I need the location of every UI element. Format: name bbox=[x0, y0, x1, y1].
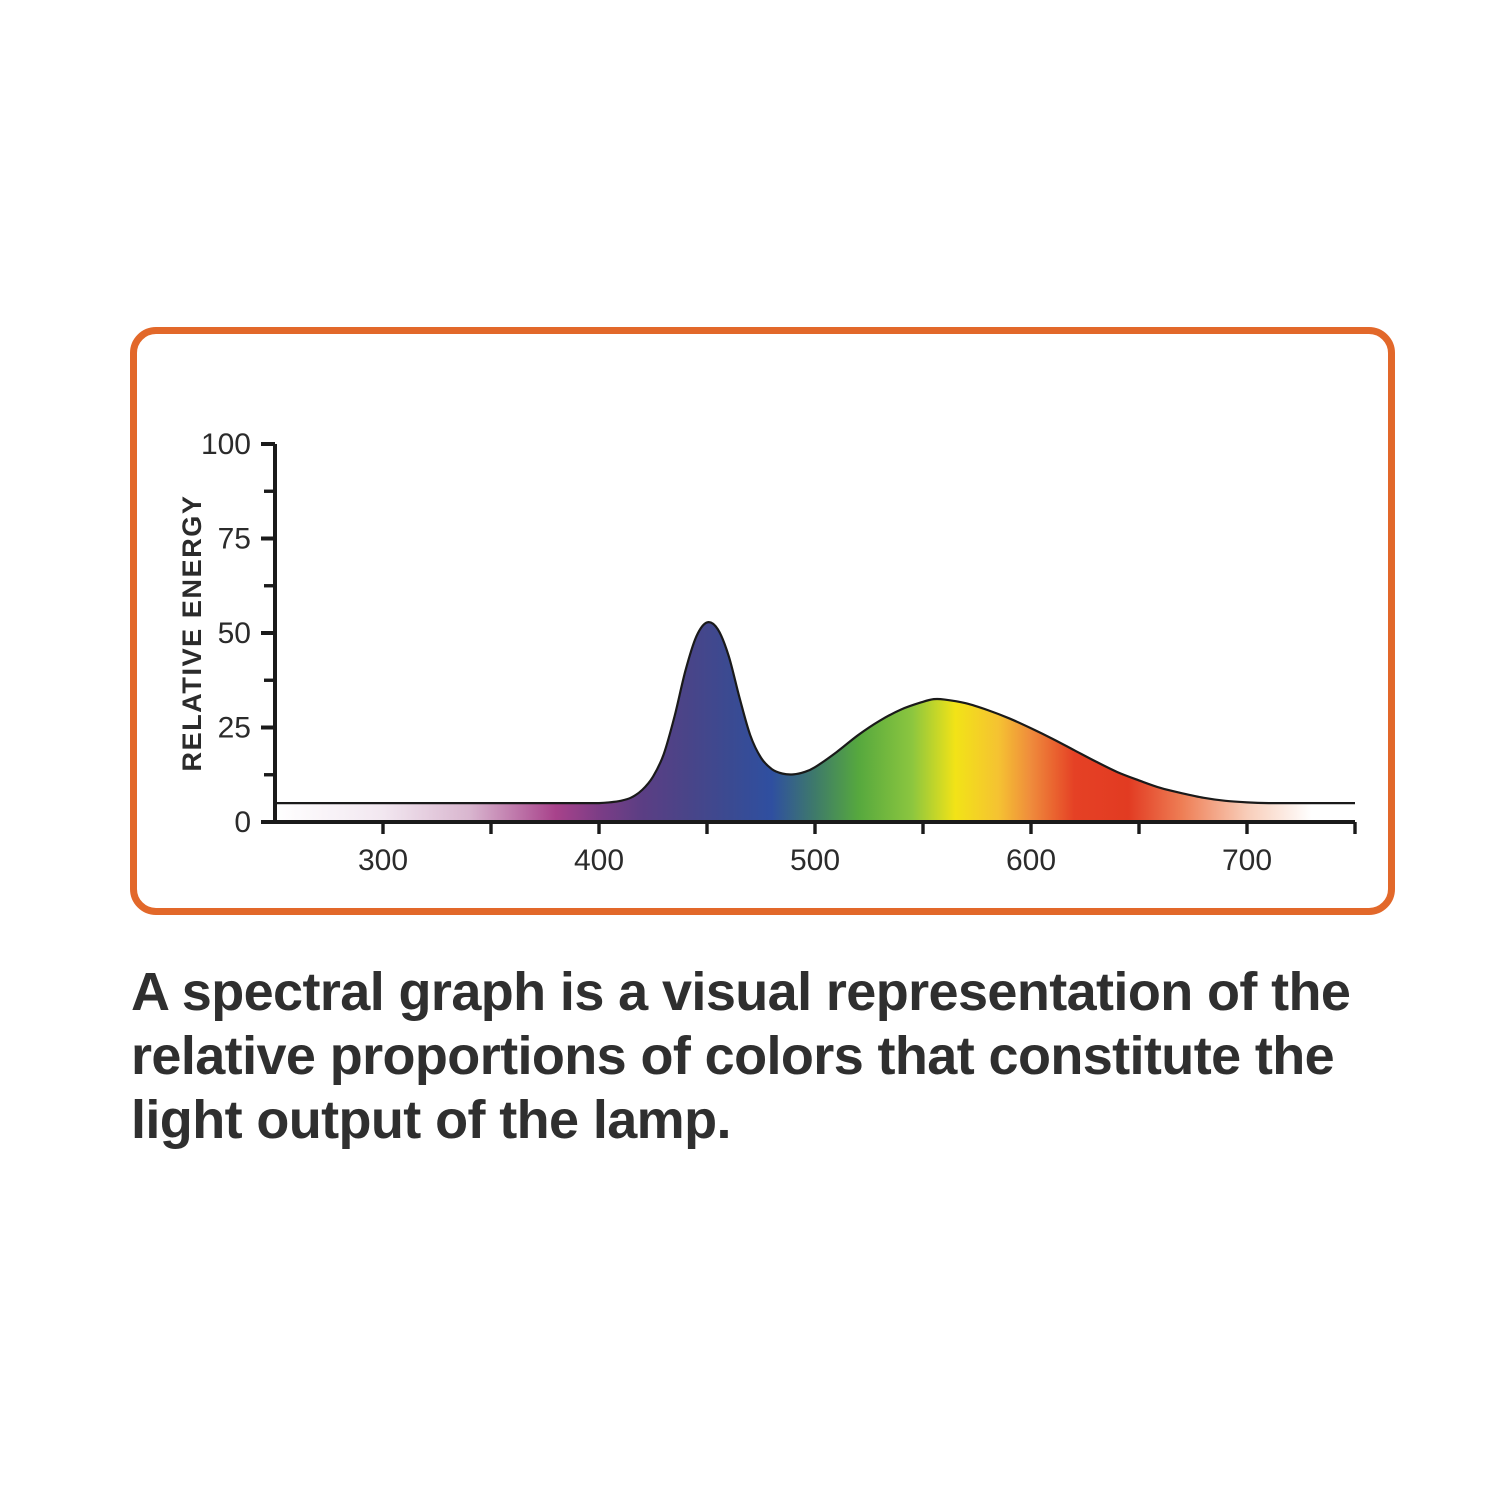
y-tick-label: 25 bbox=[218, 712, 251, 745]
spectral-area-fill bbox=[275, 622, 1355, 822]
y-tick-label: 0 bbox=[234, 806, 251, 839]
x-tick-label: 500 bbox=[790, 844, 840, 877]
y-axis-ticks bbox=[261, 444, 275, 822]
x-tick-label: 300 bbox=[358, 844, 408, 877]
chart-canvas: 0255075100 300400500600700 RELATIVE ENER… bbox=[137, 334, 1388, 908]
gridlines bbox=[275, 444, 1355, 822]
figure-caption: A spectral graph is a visual representat… bbox=[131, 960, 1401, 1152]
spectral-graph: 0255075100 300400500600700 RELATIVE ENER… bbox=[137, 334, 1388, 908]
x-tick-label: 700 bbox=[1222, 844, 1272, 877]
y-tick-label: 75 bbox=[218, 523, 251, 556]
page-root: 0255075100 300400500600700 RELATIVE ENER… bbox=[0, 0, 1500, 1500]
y-tick-label: 100 bbox=[201, 428, 251, 461]
x-tick-label: 400 bbox=[574, 844, 624, 877]
y-tick-label: 50 bbox=[218, 617, 251, 650]
y-axis-title: RELATIVE ENERGY bbox=[177, 494, 207, 771]
spectral-curve bbox=[275, 622, 1355, 822]
x-axis-tick-labels: 300400500600700 bbox=[358, 844, 1272, 877]
chart-frame: 0255075100 300400500600700 RELATIVE ENER… bbox=[130, 327, 1395, 915]
x-tick-label: 600 bbox=[1006, 844, 1056, 877]
y-axis-tick-labels: 0255075100 bbox=[201, 428, 251, 839]
